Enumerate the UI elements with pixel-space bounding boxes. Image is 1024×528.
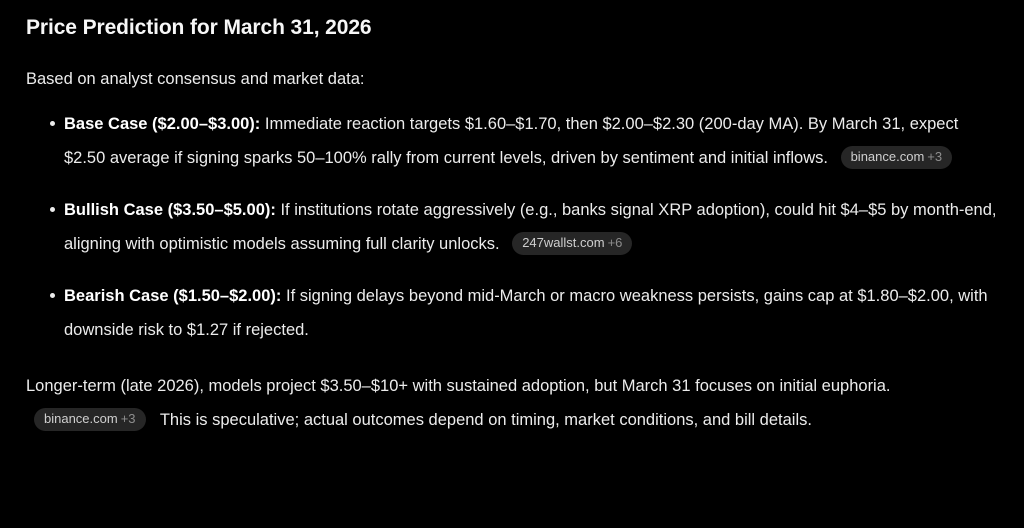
citation-pill[interactable]: binance.com+3: [34, 408, 146, 431]
citation-pill[interactable]: binance.com+3: [841, 146, 953, 169]
list-item: Bullish Case ($3.50–$5.00): If instituti…: [26, 193, 998, 261]
citation-more-count: +3: [121, 411, 136, 426]
citation-pill[interactable]: 247wallst.com+6: [512, 232, 632, 255]
list-item: Bearish Case ($1.50–$2.00): If signing d…: [26, 279, 998, 347]
list-item: Base Case ($2.00–$3.00): Immediate react…: [26, 107, 998, 175]
bullet-marker: [50, 293, 55, 298]
citation-more-count: +3: [927, 149, 942, 164]
bullet-marker: [50, 121, 55, 126]
answer-container: Price Prediction for March 31, 2026 Base…: [0, 0, 1024, 437]
closing-text-part-2: This is speculative; actual outcomes dep…: [160, 411, 812, 429]
case-label: Bearish Case ($1.50–$2.00):: [64, 287, 281, 305]
intro-paragraph: Based on analyst consensus and market da…: [26, 67, 998, 91]
citation-domain: binance.com: [851, 149, 925, 164]
page-title: Price Prediction for March 31, 2026: [26, 14, 998, 42]
closing-paragraph: Longer-term (late 2026), models project …: [26, 369, 998, 437]
closing-text-part-1: Longer-term (late 2026), models project …: [26, 377, 891, 395]
case-label: Base Case ($2.00–$3.00):: [64, 115, 260, 133]
case-list: Base Case ($2.00–$3.00): Immediate react…: [26, 107, 998, 347]
case-label: Bullish Case ($3.50–$5.00):: [64, 201, 276, 219]
bullet-marker: [50, 207, 55, 212]
citation-domain: 247wallst.com: [522, 235, 604, 250]
citation-more-count: +6: [608, 235, 623, 250]
citation-domain: binance.com: [44, 411, 118, 426]
